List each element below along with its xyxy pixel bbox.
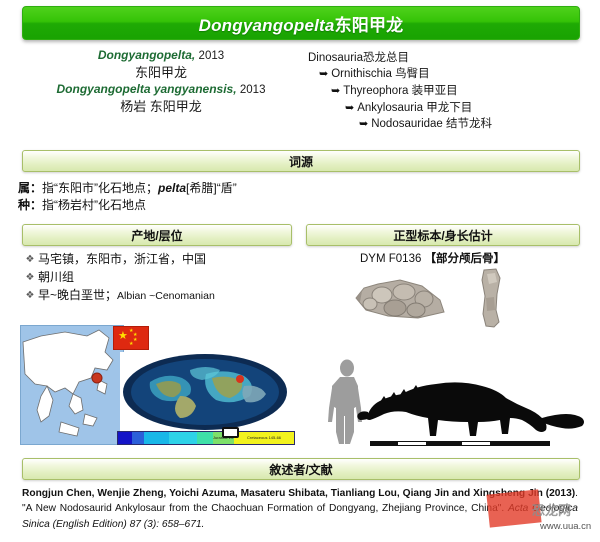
species-scientific-name: Dongyangopelta yangyanensis,	[57, 82, 237, 96]
flag-star-small-3: ★	[133, 338, 137, 343]
species-chinese-row: 杨岩 东阳甲龙	[30, 98, 292, 116]
locality-list: ❖ 马宅镇，东阳市，浙江省，中国 ❖ 朝川组 ❖ 早~晚白垩世；Albian ~…	[22, 252, 292, 307]
section-header-reference: 敘述者/文献	[22, 458, 580, 480]
genus-chinese-row: 东阳甲龙	[30, 64, 292, 82]
citation-volume-pages: 87 (3): 658–671.	[130, 519, 205, 530]
species-row: Dongyangopelta yangyanensis, 2013	[30, 82, 292, 98]
taxonomy-arrow-icon-3: ➥	[345, 101, 354, 117]
title-banner: Dongyangopelta东阳甲龙	[22, 6, 580, 40]
timescale-segment-0	[118, 432, 132, 444]
fossil-photo-limb-bone	[470, 264, 512, 332]
genus-row: Dongyangopelta, 2013	[30, 48, 292, 64]
taxonomy-rank-ornithischia: ➥Ornithischia 鸟臀目	[305, 66, 492, 83]
paleogeographic-map	[120, 352, 290, 432]
scale-reference-bar	[370, 441, 550, 446]
taxonomy-rank-thyreophora: ➥Thyreophora 装甲亚目	[305, 83, 492, 100]
section-header-holotype: 正型标本/身长估计	[306, 224, 580, 246]
list-item: ❖ 马宅镇，东阳市，浙江省，中国	[22, 252, 292, 267]
taxonomy-chinese-4: 结节龙科	[446, 118, 492, 130]
scale-tick-2	[462, 442, 490, 445]
timescale-segment-2	[144, 432, 169, 444]
dinosaur-info-card: Dongyangopelta东阳甲龙 Dongyangopelta, 2013 …	[0, 0, 600, 542]
timescale-segment-1	[132, 432, 144, 444]
taxonomy-arrow-icon-2: ➥	[331, 84, 340, 100]
taxonomy-latin-0: Dinosauria	[308, 52, 363, 64]
locality-item-2-stage: Albian ~Cenomanian	[117, 290, 215, 302]
genus-chinese-name: 东阳甲龙	[135, 65, 187, 80]
locality-item-2: 早~晚白垩世；Albian ~Cenomanian	[38, 288, 215, 304]
geologic-timescale-bar: Jurassic 201-145Cretaceous 145-66	[117, 431, 295, 445]
taxonomy-arrow-icon-1: ➥	[319, 67, 328, 83]
section-header-locality-label: 产地/层位	[131, 227, 182, 244]
taxonomy-arrow-icon-4: ➥	[359, 117, 368, 133]
section-header-etymology-label: 词源	[289, 153, 313, 170]
timescale-segment-3	[169, 432, 197, 444]
taxonomy-chinese-1: 鸟臀目	[395, 68, 430, 80]
taxonomy-latin-4: Nodosauridae	[371, 118, 443, 130]
size-comparison-diagram	[320, 356, 592, 452]
title-genus-chinese: 东阳甲龙	[335, 16, 404, 35]
flag-star-small-4: ★	[129, 342, 133, 347]
diamond-bullet-icon: ❖	[22, 288, 38, 303]
taxonomy-chinese-0: 恐龙总目	[363, 52, 409, 64]
citation-paper-title: "A New Nodosaurid Ankylosaur from the Ch…	[22, 503, 504, 514]
citation-separator: .	[575, 488, 578, 499]
china-flag-icon: ★ ★ ★ ★ ★	[113, 326, 149, 350]
taxonomy-chinese-3: 甲龙下目	[426, 102, 472, 114]
section-header-reference-label: 敘述者/文献	[269, 461, 332, 478]
locality-item-1: 朝川组	[38, 270, 74, 285]
etymology-genus-text-a: 指“东阳市”化石地点；	[42, 181, 158, 195]
taxonomy-list: Dinosauria恐龙总目 ➥Ornithischia 鸟臀目 ➥Thyreo…	[305, 50, 492, 133]
asia-locality-map	[20, 325, 124, 445]
etymology-body: 属：指“东阳市”化石地点；pelta[希腊]“盾” 种：指“杨岩村”化石地点	[18, 180, 237, 215]
etymology-species-label: 种：	[18, 198, 42, 212]
section-header-etymology: 词源	[22, 150, 580, 172]
citation-authors: Rongjun Chen, Wenjie Zheng, Yoichi Azuma…	[22, 488, 575, 499]
timescale-segment-4	[197, 432, 213, 444]
taxonomy-latin-1: Ornithischia	[331, 68, 392, 80]
etymology-species-line: 种：指“杨岩村”化石地点	[18, 197, 237, 214]
names-block: Dongyangopelta, 2013 东阳甲龙 Dongyangopelta…	[30, 48, 292, 116]
title-genus-latin: Dongyangopelta	[199, 16, 335, 35]
flag-star-large: ★	[118, 331, 128, 342]
locality-item-0: 马宅镇，东阳市，浙江省，中国	[38, 252, 206, 267]
list-item: ❖ 早~晚白垩世；Albian ~Cenomanian	[22, 288, 292, 304]
list-item: ❖ 朝川组	[22, 270, 292, 285]
species-year: 2013	[240, 84, 266, 96]
diamond-bullet-icon: ❖	[22, 270, 38, 285]
genus-scientific-name: Dongyangopelta,	[98, 48, 195, 62]
taxonomy-rank-nodosauridae: ➥Nodosauridae 结节龙科	[305, 116, 492, 133]
species-chinese-name: 杨岩 东阳甲龙	[120, 99, 202, 114]
timescale-segment-6: Cretaceous 145-66	[234, 432, 294, 444]
etymology-genus-text-b: [希腊]“盾”	[186, 181, 237, 195]
etymology-genus-line: 属：指“东阳市”化石地点；pelta[希腊]“盾”	[18, 180, 237, 197]
page-title: Dongyangopelta东阳甲龙	[199, 11, 404, 36]
fossil-photo-osteoderms	[348, 268, 456, 330]
scale-tick-1	[398, 442, 426, 445]
timescale-period-marker	[222, 427, 239, 438]
taxonomy-chinese-2: 装甲亚目	[412, 85, 458, 97]
taxonomy-rank-dinosauria: Dinosauria恐龙总目	[305, 50, 492, 66]
etymology-species-text: 指“杨岩村”化石地点	[42, 198, 146, 212]
taxonomy-latin-3: Ankylosauria	[357, 102, 423, 114]
section-header-locality: 产地/层位	[22, 224, 292, 246]
holotype-specimen-id: DYM F0136	[360, 253, 421, 265]
reference-citation: Rongjun Chen, Wenjie Zheng, Yoichi Azuma…	[22, 486, 578, 532]
locality-item-2-text: 早~晚白垩世；	[38, 288, 117, 302]
taxonomy-rank-ankylosauria: ➥Ankylosauria 甲龙下目	[305, 100, 492, 117]
taxonomy-latin-2: Thyreophora	[343, 85, 408, 97]
diamond-bullet-icon: ❖	[22, 252, 38, 267]
genus-year: 2013	[199, 50, 225, 62]
etymology-genus-label: 属：	[18, 181, 42, 195]
etymology-greek-root: pelta	[158, 181, 186, 195]
section-header-holotype-label: 正型标本/身长估计	[393, 227, 492, 244]
